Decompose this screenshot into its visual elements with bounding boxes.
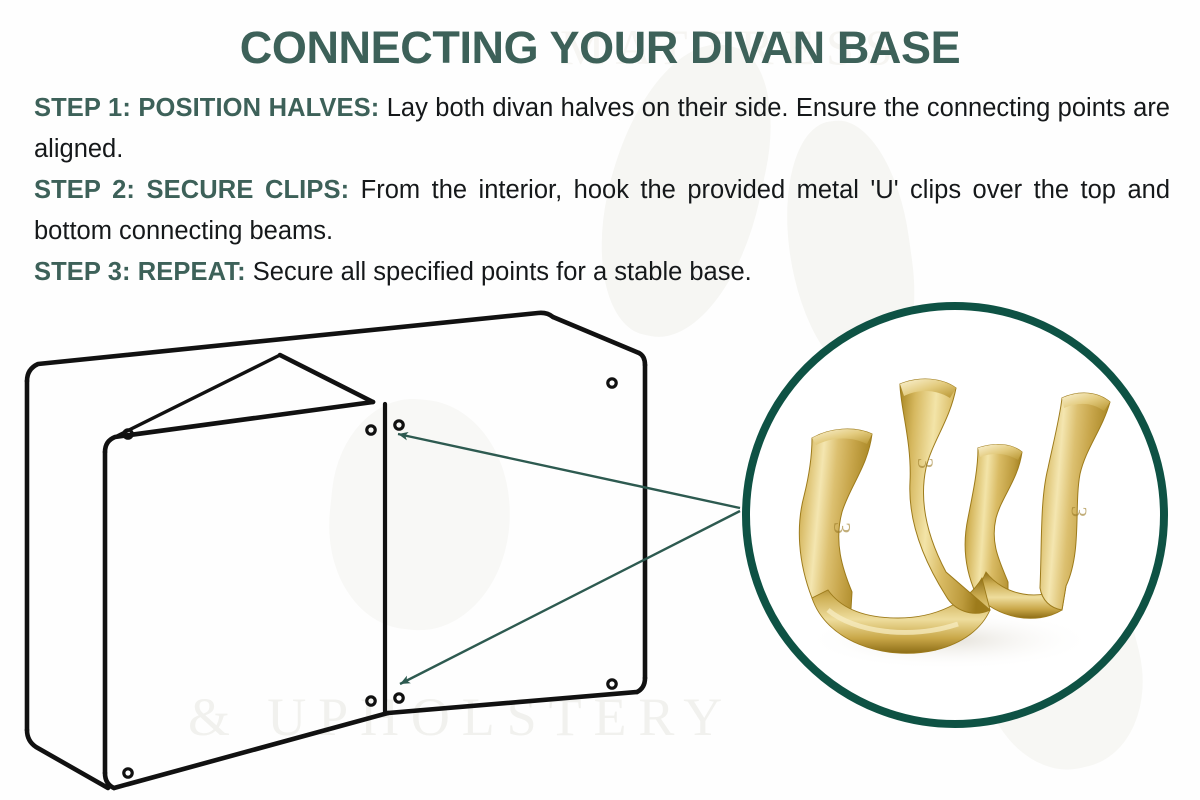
arrow-lower-connecting-point (400, 511, 740, 684)
connecting-point-hole (395, 421, 403, 429)
page-title: CONNECTING YOUR DIVAN BASE (0, 22, 1200, 74)
callout-arrows (398, 434, 740, 684)
u-clip-back: 3 (965, 393, 1110, 618)
step-3-text: Secure all specified points for a stable… (253, 258, 752, 286)
connecting-point-hole (124, 769, 132, 777)
metal-u-clips-photo: 3 3 3 (742, 302, 1168, 728)
step-2: STEP 2: SECURE CLIPS: From the interior,… (34, 170, 1170, 252)
connecting-point-hole (608, 680, 616, 688)
step-2-label: STEP 2: SECURE CLIPS: (34, 176, 349, 204)
arrow-upper-connecting-point (398, 434, 740, 508)
u-clip-front: 3 3 (799, 379, 990, 653)
connecting-point-hole (367, 426, 375, 434)
step-1: STEP 1: POSITION HALVES: Lay both divan … (34, 88, 1170, 170)
instruction-steps: STEP 1: POSITION HALVES: Lay both divan … (34, 88, 1170, 293)
instruction-graphic: MATTRESS & UPHOLSTERY CONNECTING YOUR DI… (0, 0, 1200, 800)
connecting-point-hole (608, 379, 616, 387)
step-1-label: STEP 1: POSITION HALVES: (34, 94, 379, 122)
clip-stamp-number: 3 (828, 522, 854, 534)
clip-stamp-number: 3 (1067, 506, 1092, 518)
divan-base-outline (27, 313, 645, 788)
clip-stamp-number: 3 (913, 457, 938, 469)
connecting-point-hole (367, 697, 375, 705)
u-clips-illustration: 3 3 3 (750, 310, 1168, 728)
connecting-point-hole (395, 694, 403, 702)
step-3-label: STEP 3: REPEAT: (34, 258, 246, 286)
step-3: STEP 3: REPEAT: Secure all specified poi… (34, 252, 1170, 293)
